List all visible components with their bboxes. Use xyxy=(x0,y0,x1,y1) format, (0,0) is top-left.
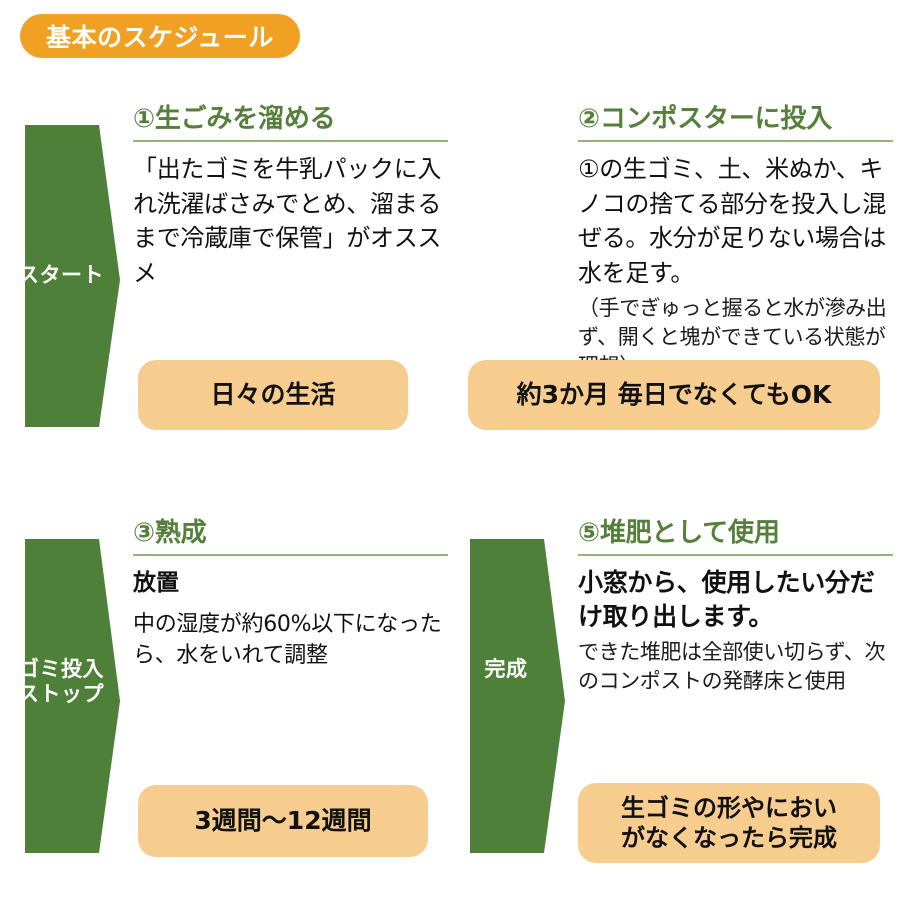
step-2-heading-rule xyxy=(578,140,893,142)
pill-line: がなくなったら完成 xyxy=(621,823,837,853)
step-5-text: 小窓から、使用したい分だけ取り出します。 xyxy=(578,566,893,634)
process-arrow-5: 完成 xyxy=(460,529,570,863)
step-3-body: ③熟成 放置 中の湿度が約60%以下になったら、水をいれて調整 xyxy=(133,518,448,672)
step-1-body: ①生ごみを溜める 「出たゴミを牛乳パックに入れ洗濯ばさみでとめ、溜まるまで冷蔵庫… xyxy=(133,104,448,290)
process-arrow-1: スタート xyxy=(15,115,125,437)
step-2-heading: ②コンポスターに投入 xyxy=(578,104,893,135)
step-5-heading-rule xyxy=(578,554,893,556)
step-3-text: 中の湿度が約60%以下になったら、水をいれて調整 xyxy=(133,609,448,671)
schedule-title-badge: 基本のスケジュール xyxy=(20,14,300,58)
step-3-subheading: 放置 xyxy=(133,568,448,599)
step-3-duration-pill: 3週間〜12週間 xyxy=(138,785,428,857)
arrow-label-line: ゴミ投入 xyxy=(15,657,107,682)
process-arrow-5-label: 完成 xyxy=(460,657,552,682)
pill-line: 3週間〜12週間 xyxy=(194,805,371,836)
step-1-heading-rule xyxy=(133,140,448,142)
step-5-note: できた堆肥は全部使い切らず、次のコンポストの発酵床と使用 xyxy=(578,638,893,696)
arrow-label-line: スタート xyxy=(15,263,107,288)
process-arrow-3-label: ゴミ投入 ストップ xyxy=(15,657,107,707)
pill-line: 約3か月 毎日でなくてもOK xyxy=(517,379,832,410)
step-2-body: ②コンポスターに投入 ①の生ゴミ、土、米ぬか、キノコの捨てる部分を投入し混ぜる。… xyxy=(578,104,893,381)
schedule-title-text: 基本のスケジュール xyxy=(46,18,274,54)
step-5-duration-pill: 生ゴミの形やにおい がなくなったら完成 xyxy=(578,783,880,863)
arrow-label-line: ストップ xyxy=(15,682,107,707)
step-2-text: ①の生ゴミ、土、米ぬか、キノコの捨てる部分を投入し混ぜる。水分が足りない場合は水… xyxy=(578,152,893,290)
step-5-body: ⑤堆肥として使用 小窓から、使用したい分だけ取り出します。 できた堆肥は全部使い… xyxy=(578,518,893,696)
arrow-chevron-icon xyxy=(460,529,570,863)
process-arrow-1-label: スタート xyxy=(15,263,107,288)
step-1-duration-pill: 日々の生活 xyxy=(138,360,408,430)
step-3-heading-rule xyxy=(133,554,448,556)
arrow-label-line: 完成 xyxy=(460,657,552,682)
step-3-heading: ③熟成 xyxy=(133,518,448,549)
pill-line: 日々の生活 xyxy=(210,379,335,410)
pill-line: 生ゴミの形やにおい xyxy=(621,793,837,823)
step-5-heading: ⑤堆肥として使用 xyxy=(578,518,893,549)
step-2-duration-pill: 約3か月 毎日でなくてもOK xyxy=(468,360,880,430)
step-1-text: 「出たゴミを牛乳パックに入れ洗濯ばさみでとめ、溜まるまで冷蔵庫で保管」がオススメ xyxy=(133,152,448,290)
step-1-heading: ①生ごみを溜める xyxy=(133,104,448,135)
process-arrow-3: ゴミ投入 ストップ xyxy=(15,529,125,863)
